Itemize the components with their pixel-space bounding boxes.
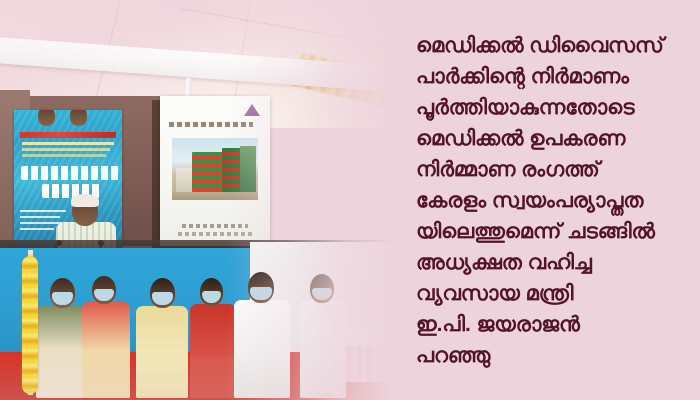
banner-portrait [38,110,55,126]
banner-headline-bar [20,132,116,138]
caption-line: അധ്യക്ഷത വഹിച്ച [416,247,700,278]
person-torso [190,304,236,398]
caption-line: മെഡിക്കൽ ഉപകരണ [416,123,700,154]
caption-text-block: മെഡിക്കൽ ഡിവൈസസ് പാർക്കിന്റെ നിർമാണം പൂർ… [416,30,700,371]
caption-line: പറഞ്ഞു [416,340,700,371]
speaker-hair [71,194,99,207]
caption-line: മെഡിക്കൽ ഡിവൈസസ് [416,30,700,61]
person-torso [234,300,290,398]
person-torso [136,306,188,398]
poster-logo-icon [244,104,260,116]
poster-caption-line1 [182,224,248,228]
banner-footer-line [20,216,60,218]
banner-portrait [70,110,87,126]
poster-caption-line2 [178,232,252,236]
banner-subtext-line [22,148,110,151]
banner-subtext-line [22,154,106,157]
person-torso [300,300,346,398]
person-torso [36,306,88,398]
caption-line: പാർക്കിന്റെ നിർമാണം [416,61,700,92]
caption-panel: മെഡിക്കൽ ഡിവൈസസ് പാർക്കിന്റെ നിർമാണം പൂർ… [392,0,700,400]
event-photograph [0,0,392,400]
poster-building-render [172,138,258,200]
banner-footer-line [20,228,54,230]
render-ground [172,192,258,200]
caption-line: നിർമ്മാണ രംഗത്ത് [416,154,700,185]
caption-line: ഇ.പി. ജയരാജൻ [416,309,700,340]
photo-scene [0,0,392,400]
caption-line: കേരളം സ്വയംപര്യാപ്തത [416,185,700,216]
caption-line: വ്യവസായ മന്ത്രി [416,278,700,309]
poster-heading-text [169,122,253,127]
banner-subtext-line [22,142,114,145]
caption-line: യിലെത്തുമെന്ന് ചടങ്ങിൽ [416,216,700,247]
person-torso [82,302,130,398]
render-building-right [240,146,256,192]
presentation-poster [160,96,270,246]
marigold-garland [22,256,38,394]
render-building-main [192,152,226,192]
banner-portraits [22,110,114,126]
banner-title-line1 [21,166,119,180]
news-article-image: മെഡിക്കൽ ഡിവൈസസ് പാർക്കിന്റെ നിർമാണം പൂർ… [0,0,700,400]
caption-line: പൂർത്തിയാകുന്നതോടെ [416,92,700,123]
banner-footer-line [20,210,66,212]
